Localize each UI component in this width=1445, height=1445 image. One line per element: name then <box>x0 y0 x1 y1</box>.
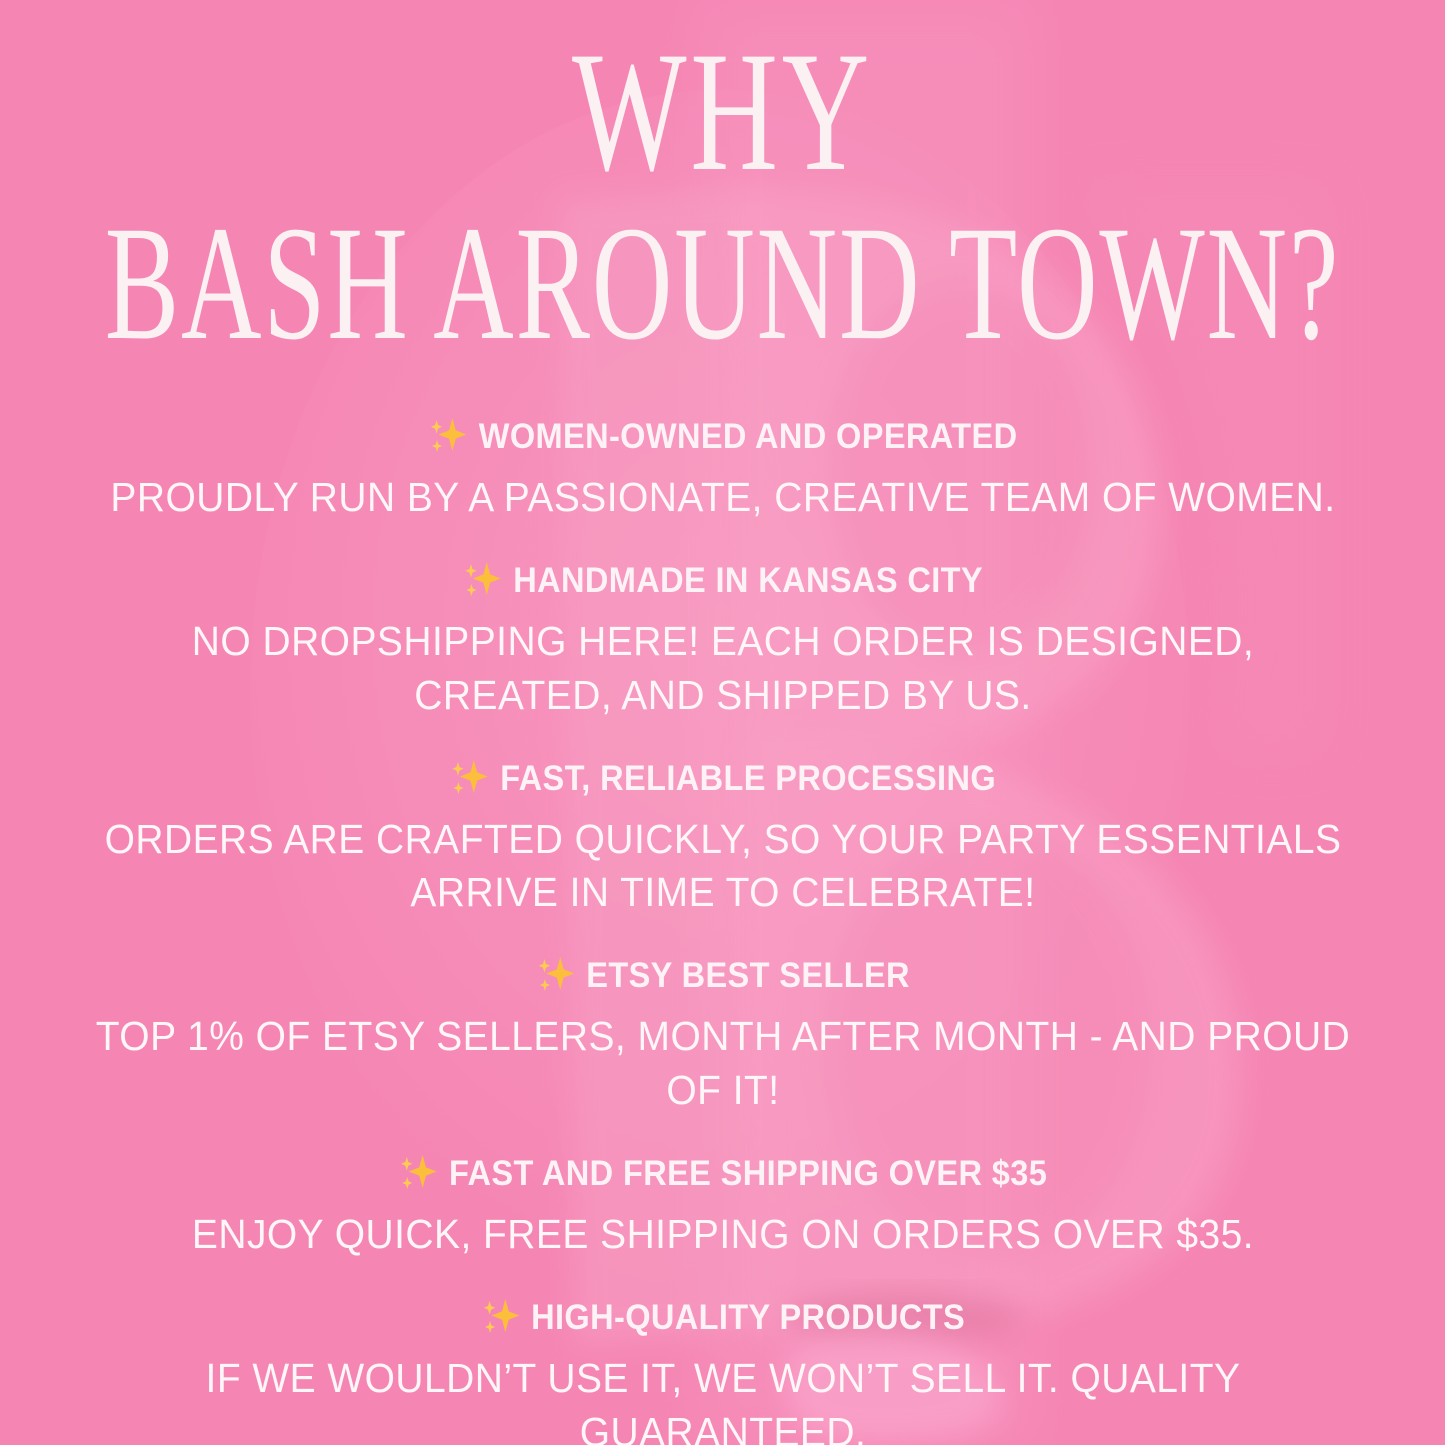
poster-canvas: WHY BASH AROUND TOWN? WOMEN-OWNED AND OP… <box>0 0 1445 1445</box>
feature-body-text: PROUDLY RUN BY A PASSIONATE, CREATIVE TE… <box>86 471 1359 524</box>
feature-heading: ETSY BEST SELLER <box>99 955 1345 997</box>
sparkles-icon <box>428 415 467 457</box>
feature-heading-text: FAST AND FREE SHIPPING OVER $35 <box>449 1155 1047 1194</box>
page-title: WHY BASH AROUND TOWN? <box>0 26 1445 324</box>
feature-heading-text: FAST, RELIABLE PROCESSING <box>500 760 996 799</box>
sparkles-icon <box>449 757 488 799</box>
feature-body-text: TOP 1% OF ETSY SELLERS, MONTH AFTER MONT… <box>86 1010 1359 1117</box>
sparkles-icon <box>398 1152 437 1194</box>
feature-heading-text: HIGH-QUALITY PRODUCTS <box>531 1299 965 1338</box>
sparkles-icon <box>463 559 502 601</box>
feature-body-text: ORDERS ARE CRAFTED QUICKLY, SO YOUR PART… <box>86 813 1359 920</box>
feature-heading: HIGH-QUALITY PRODUCTS <box>99 1297 1345 1339</box>
content-layer: WHY BASH AROUND TOWN? WOMEN-OWNED AND OP… <box>0 0 1445 1445</box>
feature-item-women-owned: WOMEN-OWNED AND OPERATED PROUDLY RUN BY … <box>53 416 1393 524</box>
feature-item-fast-processing: FAST, RELIABLE PROCESSING ORDERS ARE CRA… <box>53 758 1393 920</box>
feature-heading: FAST AND FREE SHIPPING OVER $35 <box>99 1153 1345 1195</box>
feature-heading-text: ETSY BEST SELLER <box>586 957 910 996</box>
feature-body-text: NO DROPSHIPPING HERE! EACH ORDER IS DESI… <box>91 615 1355 722</box>
sparkles-icon <box>536 954 575 996</box>
feature-item-high-quality: HIGH-QUALITY PRODUCTS IF WE WOULDN’T USE… <box>53 1297 1393 1445</box>
title-line-1: WHY <box>58 26 1387 190</box>
feature-heading: FAST, RELIABLE PROCESSING <box>99 758 1345 800</box>
sparkles-icon <box>480 1296 519 1338</box>
feature-item-etsy-best-seller: ETSY BEST SELLER TOP 1% OF ETSY SELLERS,… <box>53 955 1393 1117</box>
feature-heading: WOMEN-OWNED AND OPERATED <box>99 416 1345 458</box>
feature-heading-text: WOMEN-OWNED AND OPERATED <box>478 418 1017 457</box>
feature-heading-text: HANDMADE IN KANSAS CITY <box>513 562 983 601</box>
feature-heading: HANDMADE IN KANSAS CITY <box>99 560 1345 602</box>
feature-body-text: IF WE WOULDN’T USE IT, WE WON’T SELL IT.… <box>86 1352 1359 1445</box>
feature-body-text: ENJOY QUICK, FREE SHIPPING ON ORDERS OVE… <box>86 1208 1359 1261</box>
feature-list: WOMEN-OWNED AND OPERATED PROUDLY RUN BY … <box>0 416 1445 1445</box>
feature-item-handmade-kc: HANDMADE IN KANSAS CITY NO DROPSHIPPING … <box>53 560 1393 722</box>
feature-item-free-shipping: FAST AND FREE SHIPPING OVER $35 ENJOY QU… <box>53 1153 1393 1261</box>
title-line-2: BASH AROUND TOWN? <box>72 202 1373 363</box>
